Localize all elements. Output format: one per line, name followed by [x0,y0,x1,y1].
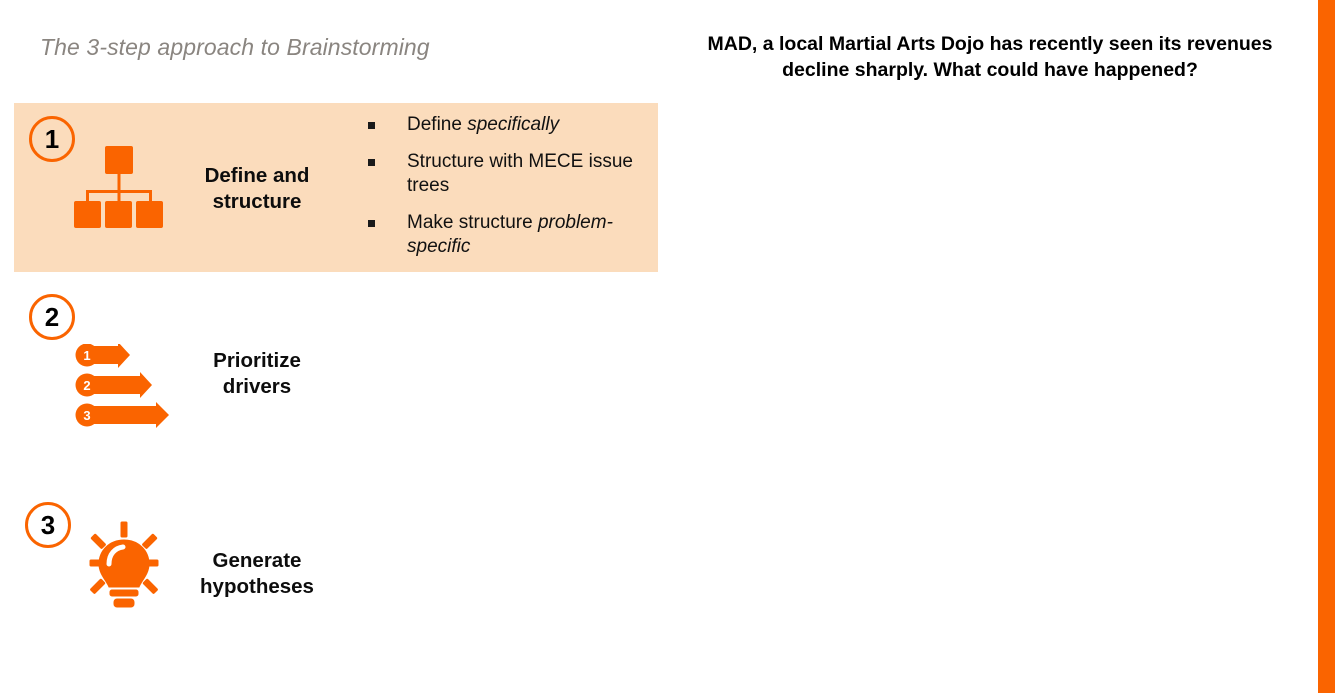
bullet-text-italic: specifically [467,114,559,135]
page-title: The 3-step approach to Brainstorming [40,34,430,61]
bullet-text-prefix: Make structure [407,212,538,233]
step-1-bullet-list: Define specifically Structure with MECE … [365,113,645,272]
step-number-3: 3 [41,512,55,538]
step-number-2: 2 [45,304,59,330]
bullet-text-prefix: Define [407,114,467,135]
arrow-number-3: 3 [83,408,90,423]
arrow-number-1: 1 [83,348,90,363]
lightbulb-icon [76,520,172,612]
step-label-2-line1: Prioritize [213,349,301,372]
step-label-3-line1: Generate [213,549,302,572]
step-label-3-line2: hypotheses [200,575,314,598]
step-label-1-line2: structure [213,190,302,213]
step-label-3: Generate hypotheses [172,548,342,599]
step-badge-3: 3 [25,502,71,548]
step-label-1: Define and structure [172,163,342,214]
bullet-marker-icon [368,220,375,227]
bullet-marker-icon [368,122,375,129]
org-chart-tree-icon [74,146,164,231]
bullet-text-prefix: Structure with MECE issue trees [407,151,633,197]
ranked-arrows-icon: 1 2 3 [74,344,172,428]
step-label-2: Prioritize drivers [172,348,342,399]
bullet-marker-icon [368,159,375,166]
step-number-1: 1 [45,126,59,152]
list-item: Define specifically [365,113,645,138]
arrow-number-2: 2 [83,378,90,393]
right-accent-bar [1318,0,1335,693]
list-item: Structure with MECE issue trees [365,150,645,199]
step-label-1-line1: Define and [205,164,310,187]
step-badge-2: 2 [29,294,75,340]
prompt-headline: MAD, a local Martial Arts Dojo has recen… [690,32,1290,84]
step-badge-1: 1 [29,116,75,162]
step-label-2-line2: drivers [223,375,291,398]
list-item: Make structure problem-specific [365,211,645,260]
